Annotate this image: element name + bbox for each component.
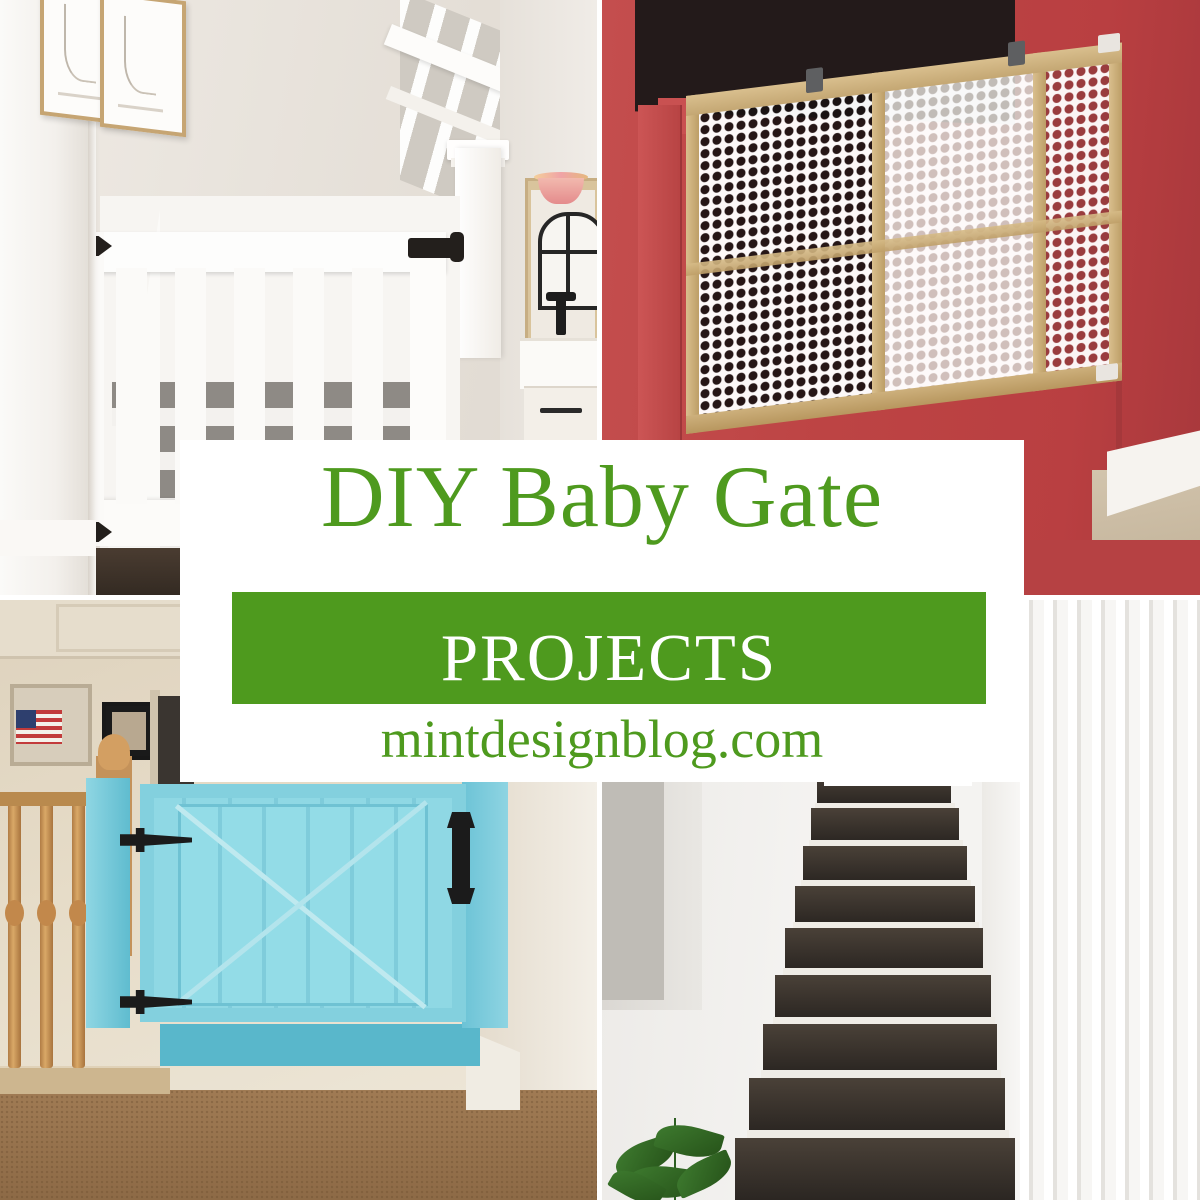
mounting-bracket (1098, 33, 1120, 54)
x-brace-two (176, 800, 428, 1005)
stair-tread (749, 1078, 1005, 1132)
drawer-handle (540, 408, 582, 413)
baseboard (0, 520, 96, 556)
baluster (40, 800, 53, 1068)
stair-nosing (773, 1017, 995, 1024)
stair-tread (775, 975, 991, 1019)
baluster (8, 800, 21, 1068)
mounting-clip-left (806, 67, 823, 93)
gate-latch-knob (450, 232, 464, 262)
stair-tread (735, 1138, 1015, 1200)
website-url: mintdesignblog.com (180, 712, 1024, 766)
mounting-bracket-bottom (1096, 363, 1118, 382)
gate-wood-frame (686, 42, 1122, 436)
stair-tread (785, 928, 983, 970)
stair-tread (112, 382, 442, 408)
text-overlay-card: DIY Baby Gate Projects mintdesignblog.co… (180, 440, 1024, 782)
potted-plant (610, 1108, 750, 1200)
stair-nosing (783, 968, 987, 975)
gate-top-rail (66, 232, 446, 272)
flag-canton (16, 710, 36, 728)
page-title: DIY Baby Gate (180, 454, 1024, 542)
staircase (757, 740, 1005, 1200)
gate-pull-handle (452, 818, 470, 896)
baluster-turning (37, 900, 56, 926)
stair-nosing (747, 1130, 1009, 1138)
stair-riser (112, 408, 442, 426)
gate-kick-panel (160, 1024, 480, 1066)
gate-left-post (86, 778, 130, 1028)
gate-center-panel (178, 804, 428, 1006)
wall-post (638, 105, 682, 485)
framed-art-right (100, 0, 186, 137)
stair-tread (803, 846, 967, 882)
window-mullion-horizontal (538, 250, 597, 254)
projects-banner: Projects (232, 592, 986, 704)
stair-tread (763, 1024, 997, 1072)
baluster-turning (5, 900, 24, 926)
stair-nosing (0, 1068, 170, 1094)
baluster (72, 800, 85, 1068)
counter-top (520, 338, 597, 389)
window-mullion-vertical (566, 214, 570, 300)
mounting-clip-right (1008, 40, 1025, 66)
stair-tread (795, 886, 975, 924)
gate-slat (116, 268, 147, 504)
white-curtain (1020, 600, 1200, 1200)
banner-label: Projects (232, 592, 986, 704)
newel-finial (98, 734, 130, 770)
stair-nosing (761, 1070, 1001, 1078)
faucet-body (556, 295, 566, 335)
pin-graphic-canvas: DIY Baby Gate Projects mintdesignblog.co… (0, 0, 1200, 1200)
stair-tread (811, 808, 959, 842)
